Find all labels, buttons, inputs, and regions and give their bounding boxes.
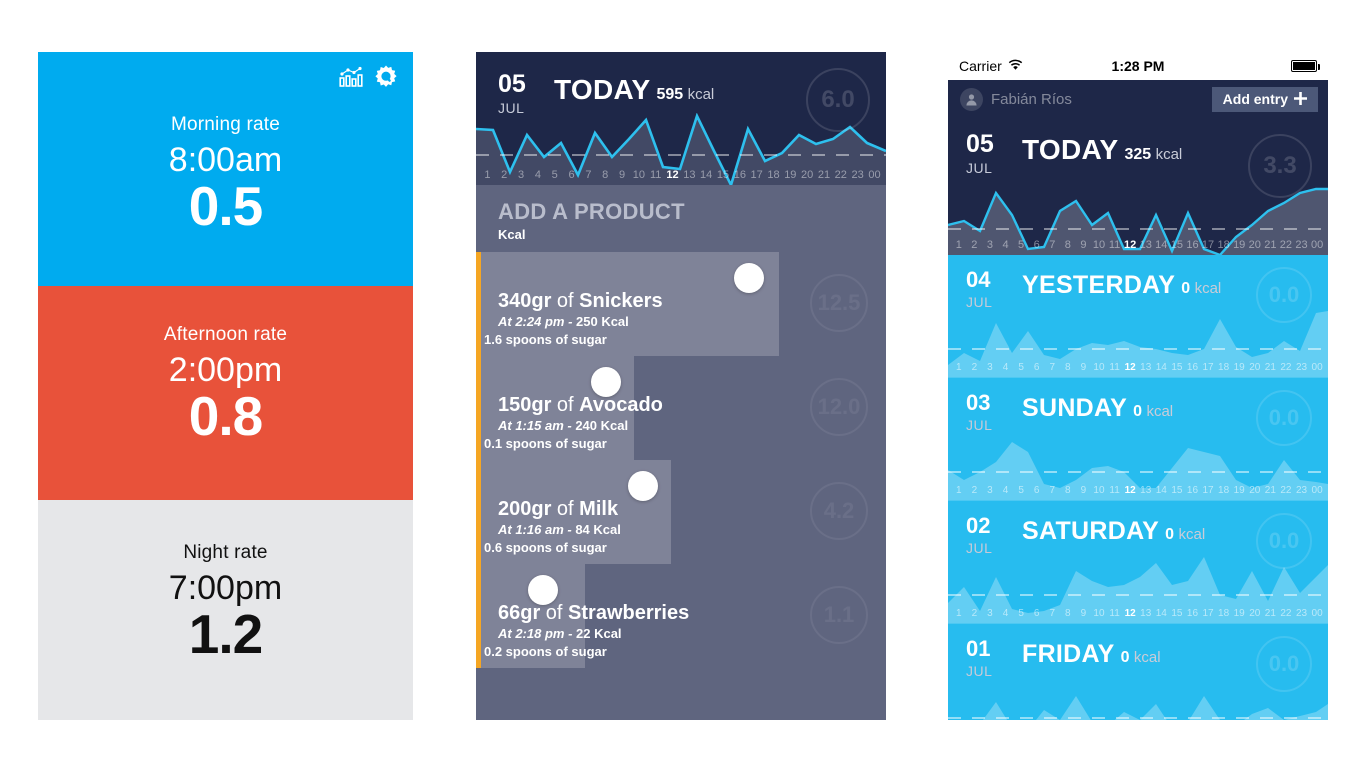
plus-icon — [1294, 92, 1307, 107]
hour-tick: 6 — [1029, 608, 1045, 619]
rate-time: 2:00pm — [38, 350, 413, 390]
food-slider-knob[interactable] — [734, 263, 764, 293]
hour-tick: 2 — [967, 362, 983, 373]
hour-tick: 18 — [1216, 608, 1232, 619]
food-text: 200gr of MilkAt 1:16 am - 84 Kcal — [498, 498, 621, 537]
title-wrap: TODAY 595 kcal — [554, 72, 714, 104]
food-row[interactable]: 12.0150gr of AvocadoAt 1:15 am - 240 Kca… — [476, 356, 886, 460]
rates-panel: Morning rate 8:00am 0.5 Afternoon rate 2… — [38, 52, 413, 720]
hour-tick: 17 — [1200, 239, 1216, 251]
hour-tick: 1 — [479, 169, 496, 181]
date-block: 03JUL — [966, 392, 1022, 433]
rate-card-night[interactable]: Night rate 7:00pm 1.2 — [38, 500, 413, 720]
hour-tick: 2 — [967, 485, 983, 496]
hour-tick: 14 — [1154, 485, 1170, 496]
hour-tick: 2 — [496, 169, 513, 181]
panel1-icon-group — [339, 64, 399, 90]
hour-tick: 11 — [1107, 239, 1123, 251]
kcal-unit: kcal — [1179, 526, 1206, 543]
hour-tick: 1 — [951, 239, 967, 251]
rate-value: 0.5 — [38, 178, 413, 236]
ghost-score: 12.5 — [810, 274, 868, 332]
phone-screen: Carrier 1:28 PM — [948, 52, 1328, 720]
food-sugar-label: 0.1 spoons of sugar — [484, 436, 607, 451]
hour-tick: 22 — [1278, 362, 1294, 373]
food-slider-knob[interactable] — [628, 471, 658, 501]
day-month: JUL — [966, 417, 1022, 433]
add-product-section[interactable]: ADD A PRODUCT Kcal — [476, 185, 886, 252]
status-right — [1291, 60, 1317, 72]
date-block: 05 JUL — [498, 72, 554, 116]
add-entry-button[interactable]: Add entry — [1212, 87, 1318, 112]
day-month: JUL — [966, 540, 1022, 556]
hour-tick: 3 — [513, 169, 530, 181]
hour-tick: 10 — [1091, 362, 1107, 373]
rate-value: 0.8 — [38, 388, 413, 446]
hour-tick: 17 — [1200, 362, 1216, 373]
hour-tick: 3 — [982, 485, 998, 496]
food-title: 340gr of Snickers — [498, 290, 663, 312]
panel2-header-row: 05 JUL TODAY 595 kcal — [476, 52, 886, 116]
hour-tick: 15 — [1169, 362, 1185, 373]
day-title: TODAY — [554, 75, 650, 104]
hour-tick: 4 — [998, 608, 1014, 619]
hour-tick: 23 — [849, 169, 866, 181]
day-title: SUNDAY — [1022, 395, 1127, 421]
hour-tick: 11 — [1107, 485, 1123, 496]
hour-tick: 8 — [1060, 362, 1076, 373]
battery-icon — [1291, 60, 1317, 72]
title-wrap: TODAY 325 kcal — [1022, 132, 1182, 164]
hour-tick: 12 — [1122, 362, 1138, 373]
hour-tick: 23 — [1294, 362, 1310, 373]
hour-tick: 5 — [1013, 608, 1029, 619]
hour-tick: 5 — [1013, 239, 1029, 251]
user-avatar-icon — [960, 88, 983, 111]
food-slider-knob[interactable] — [591, 367, 621, 397]
phone-today-row[interactable]: 05 JUL TODAY 325 kcal 3.3 12345678910111… — [948, 118, 1328, 255]
day-title: SATURDAY — [1022, 518, 1159, 544]
day-kcal: 0 kcal — [1133, 403, 1173, 421]
hour-tick: 1 — [951, 362, 967, 373]
kcal-value: 595 — [656, 86, 683, 103]
day-number: 05 — [966, 132, 1022, 157]
hour-tick: 5 — [1013, 485, 1029, 496]
day-title: FRIDAY — [1022, 641, 1115, 667]
hour-tick: 5 — [1013, 362, 1029, 373]
title-wrap: SUNDAY0 kcal — [1022, 392, 1173, 421]
hour-tick: 16 — [1185, 485, 1201, 496]
hour-tick: 16 — [1185, 362, 1201, 373]
hour-tick: 15 — [1169, 485, 1185, 496]
rate-label: Night rate — [38, 500, 413, 564]
hour-tick: 10 — [1091, 608, 1107, 619]
hour-tick: 18 — [1216, 485, 1232, 496]
day-number: 04 — [966, 269, 1022, 291]
phone-today-header: 05 JUL TODAY 325 kcal — [948, 118, 1328, 176]
kcal-unit: kcal — [1134, 649, 1161, 666]
kcal-unit: kcal — [1195, 280, 1222, 297]
hour-tick: 23 — [1294, 239, 1310, 251]
hour-tick: 11 — [1107, 362, 1123, 373]
hour-tick: 21 — [1263, 485, 1279, 496]
hour-tick: 13 — [1138, 608, 1154, 619]
day-row[interactable]: 03JULSUNDAY0 kcal0.012345678910111213141… — [948, 378, 1328, 501]
day-header-row: 03JULSUNDAY0 kcal — [948, 378, 1328, 433]
hour-tick: 12 — [664, 169, 681, 181]
hour-tick: 19 — [1231, 608, 1247, 619]
title-wrap: FRIDAY0 kcal — [1022, 638, 1161, 667]
hour-tick: 17 — [1200, 485, 1216, 496]
hour-tick: 21 — [1263, 608, 1279, 619]
hour-tick: 22 — [1278, 608, 1294, 619]
hour-tick: 19 — [782, 169, 799, 181]
hour-tick: 6 — [1029, 485, 1045, 496]
hour-tick: 15 — [1169, 239, 1185, 251]
day-month: JUL — [498, 100, 554, 116]
panel2-day-header[interactable]: 05 JUL TODAY 595 kcal 6.0 12345678910111… — [476, 52, 886, 185]
hour-axis: 123456789101112131415161718192021222300 — [948, 603, 1328, 623]
food-subtitle: At 2:18 pm - 22 Kcal — [498, 626, 689, 641]
kcal-value: 0 — [1133, 403, 1142, 420]
hour-tick: 10 — [1091, 239, 1107, 251]
date-block: 02JUL — [966, 515, 1022, 556]
kcal-unit: kcal — [1156, 146, 1183, 163]
day-number: 01 — [966, 638, 1022, 660]
app-navbar: Fabián Ríos Add entry — [948, 80, 1328, 118]
hour-tick: 00 — [1309, 485, 1325, 496]
add-entry-label: Add entry — [1223, 92, 1288, 106]
ios-status-bar: Carrier 1:28 PM — [948, 52, 1328, 80]
hour-tick: 4 — [998, 239, 1014, 251]
hour-tick: 20 — [1247, 239, 1263, 251]
day-row[interactable]: 04JULYESTERDAY0 kcal0.012345678910111213… — [948, 255, 1328, 378]
kcal-unit: kcal — [1146, 403, 1173, 420]
hour-tick: 20 — [799, 169, 816, 181]
hour-tick: 6 — [1029, 239, 1045, 251]
kcal-value: 325 — [1124, 146, 1151, 163]
phone-day-list: 04JULYESTERDAY0 kcal0.012345678910111213… — [948, 255, 1328, 720]
hour-tick: 6 — [1029, 362, 1045, 373]
title-wrap: SATURDAY0 kcal — [1022, 515, 1205, 544]
hour-tick: 7 — [1044, 608, 1060, 619]
hour-tick: 7 — [580, 169, 597, 181]
hour-tick: 22 — [832, 169, 849, 181]
hour-tick: 00 — [1309, 239, 1325, 251]
day-number: 05 — [498, 72, 554, 97]
add-product-panel: 05 JUL TODAY 595 kcal 6.0 12345678910111… — [476, 52, 886, 720]
hour-tick: 8 — [1060, 608, 1076, 619]
hour-tick: 6 — [563, 169, 580, 181]
food-sugar-label: 1.6 spoons of sugar — [484, 332, 607, 347]
day-row[interactable]: 02JULSATURDAY0 kcal0.0123456789101112131… — [948, 501, 1328, 624]
hour-tick: 4 — [998, 362, 1014, 373]
hour-axis: 123456789101112131415161718192021222300 — [948, 235, 1328, 255]
add-product-subheading: Kcal — [498, 227, 886, 242]
hour-tick: 22 — [1278, 485, 1294, 496]
day-header-row: 02JULSATURDAY0 kcal — [948, 501, 1328, 556]
hour-tick: 00 — [1309, 608, 1325, 619]
food-title: 66gr of Strawberries — [498, 602, 689, 624]
rate-label: Afternoon rate — [38, 286, 413, 346]
bar-chart-icon[interactable] — [339, 66, 363, 88]
hour-tick: 19 — [1231, 485, 1247, 496]
day-number: 02 — [966, 515, 1022, 537]
day-kcal: 595 kcal — [656, 86, 714, 104]
kcal-value: 0 — [1121, 649, 1130, 666]
screenshot-stage: Morning rate 8:00am 0.5 Afternoon rate 2… — [0, 0, 1366, 768]
hour-axis: 123456789101112131415161718192021222300 — [476, 165, 886, 185]
day-month: JUL — [966, 294, 1022, 310]
hour-tick: 13 — [1138, 239, 1154, 251]
hour-tick: 14 — [1154, 608, 1170, 619]
hour-tick: 11 — [647, 169, 664, 181]
hour-tick: 3 — [982, 362, 998, 373]
username-label: Fabián Ríos — [991, 91, 1072, 108]
hour-tick: 19 — [1231, 239, 1247, 251]
hour-tick: 22 — [1278, 239, 1294, 251]
hour-tick: 9 — [1076, 239, 1092, 251]
hour-tick: 21 — [1263, 362, 1279, 373]
hour-tick: 7 — [1044, 485, 1060, 496]
ghost-score: 1.1 — [810, 586, 868, 644]
hour-tick: 23 — [1294, 608, 1310, 619]
day-header-row: 04JULYESTERDAY0 kcal — [948, 255, 1328, 310]
status-time: 1:28 PM — [948, 58, 1328, 74]
day-title: YESTERDAY — [1022, 272, 1175, 298]
day-header-row: 01JULFRIDAY0 kcal — [948, 624, 1328, 679]
food-row[interactable]: 12.5340gr of SnickersAt 2:24 pm - 250 Kc… — [476, 252, 886, 356]
hour-tick: 12 — [1122, 608, 1138, 619]
day-month: JUL — [966, 663, 1022, 679]
day-month: JUL — [966, 160, 1022, 176]
hour-tick: 7 — [1044, 239, 1060, 251]
food-subtitle: At 1:15 am - 240 Kcal — [498, 418, 663, 433]
food-row[interactable]: 4.2200gr of MilkAt 1:16 am - 84 Kcal0.6 … — [476, 460, 886, 564]
hour-tick: 4 — [998, 485, 1014, 496]
date-block: 05 JUL — [966, 132, 1022, 176]
food-row[interactable]: 1.166gr of StrawberriesAt 2:18 pm - 22 K… — [476, 564, 886, 668]
hour-tick: 3 — [982, 608, 998, 619]
hour-tick: 10 — [630, 169, 647, 181]
hour-tick: 19 — [1231, 362, 1247, 373]
gear-icon[interactable] — [373, 64, 399, 90]
rate-card-morning[interactable]: Morning rate 8:00am 0.5 — [38, 52, 413, 286]
hour-tick: 5 — [546, 169, 563, 181]
rate-card-afternoon[interactable]: Afternoon rate 2:00pm 0.8 — [38, 286, 413, 500]
hour-tick: 23 — [1294, 485, 1310, 496]
hour-tick: 1 — [951, 485, 967, 496]
ghost-score: 12.0 — [810, 378, 868, 436]
day-number: 03 — [966, 392, 1022, 414]
food-text: 66gr of StrawberriesAt 2:18 pm - 22 Kcal — [498, 602, 689, 641]
kcal-value: 0 — [1165, 526, 1174, 543]
hour-tick: 11 — [1107, 608, 1123, 619]
title-wrap: YESTERDAY0 kcal — [1022, 269, 1221, 298]
hour-tick: 7 — [1044, 362, 1060, 373]
hour-tick: 14 — [1154, 239, 1170, 251]
hour-tick: 9 — [614, 169, 631, 181]
hour-tick: 3 — [982, 239, 998, 251]
hour-tick: 9 — [1076, 485, 1092, 496]
hour-tick: 10 — [1091, 485, 1107, 496]
hour-tick: 21 — [816, 169, 833, 181]
hour-tick: 15 — [1169, 608, 1185, 619]
hour-tick: 8 — [597, 169, 614, 181]
food-subtitle: At 1:16 am - 84 Kcal — [498, 522, 621, 537]
hour-tick: 13 — [681, 169, 698, 181]
hour-tick: 13 — [1138, 485, 1154, 496]
hour-tick: 16 — [1185, 608, 1201, 619]
hour-tick: 4 — [529, 169, 546, 181]
hour-tick: 9 — [1076, 608, 1092, 619]
kcal-unit: kcal — [688, 86, 715, 103]
hour-tick: 21 — [1263, 239, 1279, 251]
hour-tick: 12 — [1122, 485, 1138, 496]
hour-tick: 2 — [967, 239, 983, 251]
hour-tick: 17 — [1200, 608, 1216, 619]
day-title: TODAY — [1022, 135, 1118, 164]
hour-axis: 123456789101112131415161718192021222300 — [948, 480, 1328, 500]
day-kcal: 325 kcal — [1124, 146, 1182, 164]
hour-tick: 14 — [1154, 362, 1170, 373]
hour-tick: 00 — [1309, 362, 1325, 373]
food-title: 200gr of Milk — [498, 498, 621, 520]
hour-axis: 123456789101112131415161718192021222300 — [948, 357, 1328, 377]
hour-tick: 20 — [1247, 485, 1263, 496]
hour-tick: 20 — [1247, 362, 1263, 373]
hour-tick: 18 — [765, 169, 782, 181]
food-subtitle: At 2:24 pm - 250 Kcal — [498, 314, 663, 329]
food-text: 340gr of SnickersAt 2:24 pm - 250 Kcal — [498, 290, 663, 329]
hour-tick: 1 — [951, 608, 967, 619]
hour-tick: 20 — [1247, 608, 1263, 619]
hour-tick: 8 — [1060, 485, 1076, 496]
day-kcal: 0 kcal — [1165, 526, 1205, 544]
hour-tick: 00 — [866, 169, 883, 181]
hour-tick: 13 — [1138, 362, 1154, 373]
rate-time: 8:00am — [38, 140, 413, 180]
food-text: 150gr of AvocadoAt 1:15 am - 240 Kcal — [498, 394, 663, 433]
user-block[interactable]: Fabián Ríos — [960, 88, 1072, 111]
food-title: 150gr of Avocado — [498, 394, 663, 416]
day-kcal: 0 kcal — [1181, 280, 1221, 298]
add-product-heading: ADD A PRODUCT — [498, 199, 886, 225]
food-sugar-label: 0.6 spoons of sugar — [484, 540, 607, 555]
food-sugar-label: 0.2 spoons of sugar — [484, 644, 607, 659]
hour-tick: 8 — [1060, 239, 1076, 251]
hour-tick: 2 — [967, 608, 983, 619]
kcal-value: 0 — [1181, 280, 1190, 297]
hour-tick: 12 — [1122, 239, 1138, 251]
rate-time: 7:00pm — [38, 568, 413, 608]
rate-value: 1.2 — [38, 606, 413, 664]
date-block: 01JUL — [966, 638, 1022, 679]
date-block: 04JUL — [966, 269, 1022, 310]
day-kcal: 0 kcal — [1121, 649, 1161, 667]
ghost-score: 4.2 — [810, 482, 868, 540]
hour-tick: 16 — [731, 169, 748, 181]
hour-tick: 14 — [698, 169, 715, 181]
food-slider-list: 12.5340gr of SnickersAt 2:24 pm - 250 Kc… — [476, 252, 886, 668]
hour-tick: 15 — [715, 169, 732, 181]
hour-tick: 9 — [1076, 362, 1092, 373]
hour-tick: 16 — [1185, 239, 1201, 251]
food-slider-knob[interactable] — [528, 575, 558, 605]
hour-tick: 18 — [1216, 362, 1232, 373]
hour-tick: 17 — [748, 169, 765, 181]
day-row[interactable]: 01JULFRIDAY0 kcal0.012345678910111213141… — [948, 624, 1328, 720]
hour-tick: 18 — [1216, 239, 1232, 251]
